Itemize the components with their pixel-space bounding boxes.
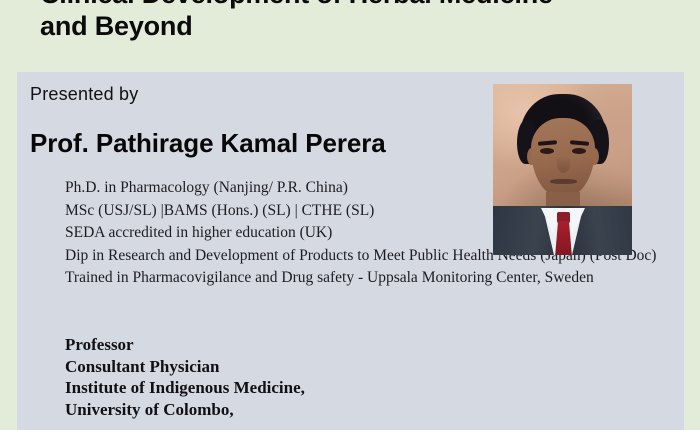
slide-title: Clinical Development of Herbal Medicine … <box>40 0 660 42</box>
portrait-eye-left <box>540 148 554 154</box>
portrait-mouth <box>550 179 577 184</box>
affiliation-block: Professor Consultant Physician Institute… <box>65 334 495 420</box>
portrait-nose <box>557 156 570 173</box>
presented-by-label: Presented by <box>30 84 138 105</box>
affiliation-item: Professor <box>65 334 495 356</box>
portrait-eye-right <box>572 148 586 154</box>
speaker-portrait-photo <box>493 84 632 255</box>
content-panel: Presented by Prof. Pathirage Kamal Perer… <box>17 72 684 430</box>
affiliation-item: Consultant Physician <box>65 356 495 378</box>
affiliation-item: University of Colombo, <box>65 399 495 421</box>
credential-item: Trained in Pharmacovigilance and Drug sa… <box>65 267 685 290</box>
affiliation-item: Institute of Indigenous Medicine, <box>65 377 495 399</box>
presentation-slide: Clinical Development of Herbal Medicine … <box>0 0 700 430</box>
speaker-name: Prof. Pathirage Kamal Perera <box>30 128 386 159</box>
